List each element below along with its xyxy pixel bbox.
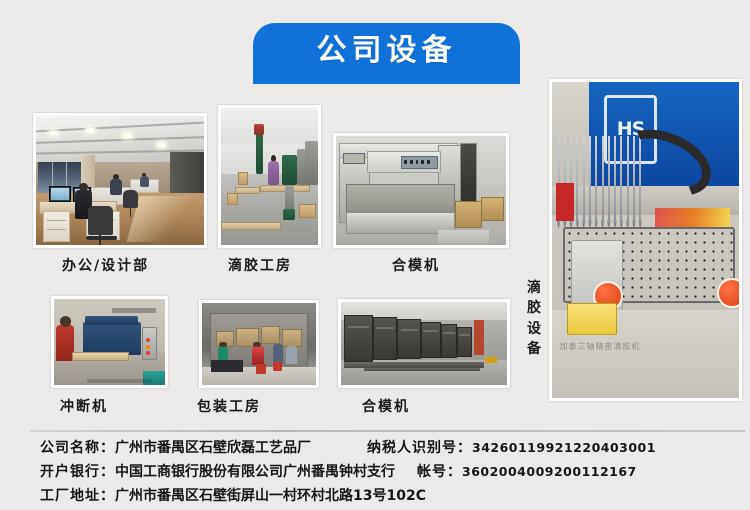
paper-scraps [438,230,489,243]
caption-dispensing-equipment: 滴胶设备 [524,278,544,359]
wiring-bundle [655,208,730,227]
red-stool [256,364,266,374]
machine-head [254,124,264,135]
chair-base [86,236,116,240]
caption-packaging-workshop: 包装工房 [197,396,261,416]
cardboard-carton [481,197,505,221]
caption-punching-machine: 冲断机 [60,396,108,416]
wall-pillar [474,320,484,355]
press-unit [344,315,372,361]
office-worker [110,174,122,195]
press-unit [457,327,472,357]
tax-id-value: 34260119921220403001 [472,440,656,455]
address-label: 工厂地址： [40,488,115,504]
footer-row-company-name: 公司名称：广州市番禺区石壁欣磊工艺品厂纳税人识别号：34260119921220… [40,437,740,461]
red-stool [273,362,282,371]
press-unit [397,319,420,359]
address-value: 广州市番禺区石壁街屏山一村环村北路13号102C [115,488,426,504]
floor-label [87,379,151,383]
account-label: 帐号： [417,464,462,480]
photo-dispensing-image [221,108,318,245]
cardboard-box [227,193,239,205]
machine-base [283,209,295,220]
bank-value: 中国工商银行股份有限公司广州番禺钟村支行 [115,464,395,480]
packaging-worker [273,344,283,364]
photo-punching-image [54,299,165,385]
caption-mold-closing-machine-2: 合模机 [362,396,410,416]
page-title: 公司设备 [317,36,457,72]
sheet-stack [72,352,130,361]
photo-cutter-image [336,136,506,245]
office-worker [140,173,148,187]
punching-machine-body [83,322,141,355]
photo-dispensing-workshop[interactable] [218,105,321,248]
photo-punching-machine[interactable] [51,296,168,388]
photo-dispensing-equipment[interactable]: HS 加泰三轴精密滴胶机 [549,79,742,401]
photo-packaging-workshop[interactable] [199,300,319,388]
tax-id-label: 纳税人识别号： [367,440,472,456]
photo-press-image [341,302,507,385]
office-monitor [49,186,71,203]
work-bench [221,222,281,230]
photo-mold-closing-machine[interactable] [333,133,509,248]
shelf-unit [305,141,318,185]
photo-office-design-department[interactable] [33,113,207,248]
control-cabinet [142,327,158,360]
caption-dispensing-workshop: 滴胶工房 [228,255,292,275]
ceiling-light [123,134,132,138]
cutter-label-plate [343,153,365,164]
company-name-label: 公司名称： [40,440,115,456]
photo-office-image [36,116,204,245]
workshop-ceiling [221,108,318,146]
company-name-value: 广州市番禺区石壁欣磊工艺品厂 [115,440,311,456]
bank-label: 开户银行： [40,464,115,480]
ceiling-light [86,128,95,132]
dispensing-machine [282,155,297,185]
warning-label [567,303,617,335]
office-chair [123,190,138,208]
workshop-worker [268,155,280,185]
cardboard-box [238,172,248,184]
cardboard-box [299,204,316,218]
equipment-model-text: 加泰三轴精密滴胶机 [559,341,656,379]
red-component [556,183,575,221]
press-unit [373,317,398,360]
box-stack [261,326,279,344]
press-rail [364,368,480,371]
wall-banner [112,308,156,313]
footer-divider [30,430,745,432]
packaging-worker [252,346,263,366]
company-info-footer: 公司名称：广州市番禺区石壁欣磊工艺品厂纳税人识别号：34260119921220… [0,434,750,510]
photo-mold-closing-machine-2[interactable] [338,299,510,388]
account-value: 3602004009200112167 [462,464,637,479]
cardboard-carton [455,201,482,227]
page-header-banner: 公司设备 [253,23,520,84]
caption-office-design-department: 办公/设计部 [62,255,149,275]
cutter-control-panel [401,156,438,169]
box-stack [282,329,303,347]
caption-mold-closing-machine: 合模机 [392,255,440,275]
photo-dispensing-equipment-image: HS 加泰三轴精密滴胶机 [552,82,739,398]
product-pile [211,360,243,371]
indicator-light [146,338,150,342]
emergency-stop-button-2[interactable] [717,278,739,308]
indicator-light [146,345,150,349]
worker-head [60,316,71,326]
ceiling-light [157,143,166,147]
punching-machine-top [85,316,138,325]
packaging-worker [286,346,296,364]
press-unit [441,324,458,357]
footer-row-bank: 开户银行：中国工商银行股份有限公司广州番禺钟村支行帐号：360200400920… [40,461,740,485]
press-unit [421,322,441,359]
office-chair [88,206,113,234]
photo-packaging-image [202,303,316,385]
desk-cabinet [43,211,70,242]
dispensing-machine [256,130,263,174]
yellow-bin [485,357,497,364]
footer-row-address: 工厂地址：广州市番禺区石壁街屏山一村环村北路13号102C [40,485,740,509]
